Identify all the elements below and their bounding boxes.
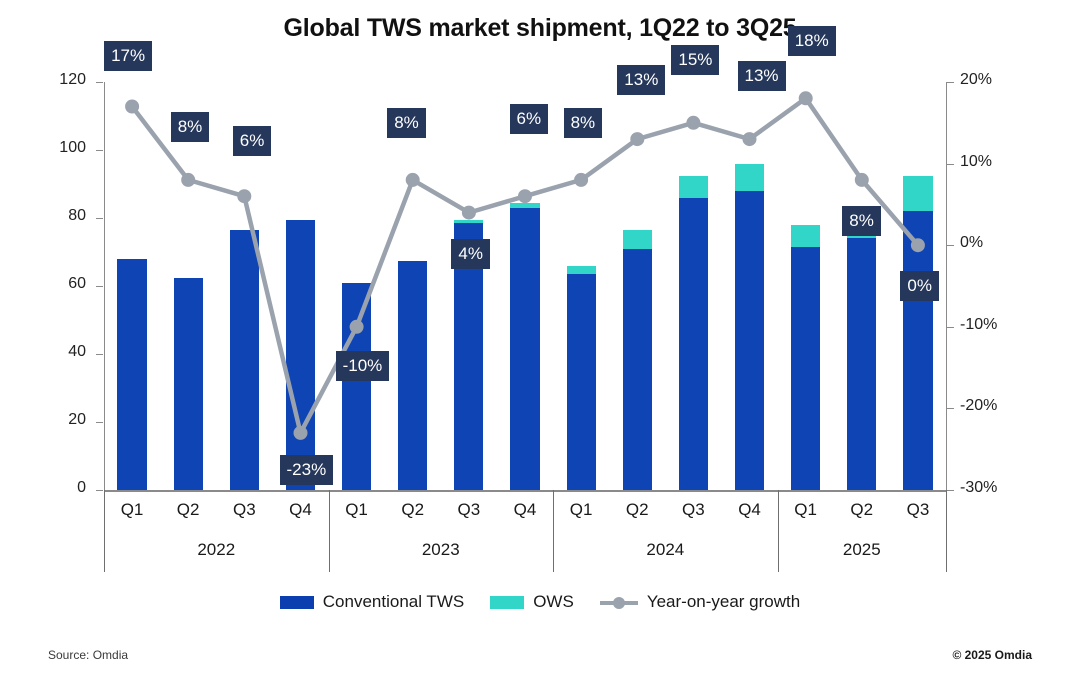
growth-line-marker — [294, 426, 308, 440]
x-tick-label-quarter: Q4 — [722, 500, 778, 520]
growth-data-label: 18% — [788, 26, 836, 56]
growth-line-marker — [855, 173, 869, 187]
x-tick-label-quarter: Q1 — [329, 500, 385, 520]
source-note: Source: Omdia — [48, 648, 128, 662]
growth-data-label: 8% — [171, 112, 210, 142]
growth-line-marker — [630, 132, 644, 146]
growth-data-label: 6% — [233, 126, 272, 156]
growth-data-label: 13% — [738, 61, 786, 91]
growth-data-label: 13% — [617, 65, 665, 95]
legend-color-swatch — [280, 596, 314, 609]
x-axis-group-label: 2023 — [329, 540, 554, 560]
x-tick-label-quarter: Q4 — [272, 500, 328, 520]
x-tick-label-quarter: Q3 — [216, 500, 272, 520]
growth-line-marker — [237, 189, 251, 203]
growth-line-marker — [350, 320, 364, 334]
x-axis-group-label: 2025 — [778, 540, 946, 560]
x-tick-label-quarter: Q1 — [778, 500, 834, 520]
legend-item-1: Conventional TWS — [280, 592, 464, 612]
growth-data-label: 17% — [104, 41, 152, 71]
x-tick-label-quarter: Q1 — [104, 500, 160, 520]
x-axis-group-separator — [329, 490, 330, 572]
legend-label: Year-on-year growth — [647, 592, 800, 612]
growth-data-label: 8% — [842, 206, 881, 236]
copyright-note: © 2025 Omdia — [952, 648, 1032, 662]
growth-line-marker — [462, 206, 476, 220]
x-tick-label-quarter: Q2 — [834, 500, 890, 520]
legend-item-2: OWS — [490, 592, 574, 612]
growth-line-marker — [686, 116, 700, 130]
x-axis-group-separator — [778, 490, 779, 572]
x-axis-group-separator — [946, 490, 947, 572]
chart-legend: Conventional TWSOWSYear-on-year growth — [0, 592, 1080, 612]
growth-data-label: -10% — [336, 351, 390, 381]
legend-line-swatch — [600, 596, 638, 609]
growth-line-layer — [0, 0, 1080, 675]
x-tick-label-quarter: Q3 — [441, 500, 497, 520]
growth-line-marker — [518, 189, 532, 203]
growth-data-label: 8% — [564, 108, 603, 138]
growth-line-marker — [125, 100, 139, 114]
growth-data-label: -23% — [280, 455, 334, 485]
x-tick-label-quarter: Q3 — [890, 500, 946, 520]
x-tick-label-quarter: Q1 — [553, 500, 609, 520]
growth-data-label: 6% — [510, 104, 549, 134]
growth-line-marker — [574, 173, 588, 187]
growth-line-marker — [799, 91, 813, 105]
x-tick-label-quarter: Q2 — [385, 500, 441, 520]
legend-color-swatch — [490, 596, 524, 609]
x-tick-label-quarter: Q2 — [609, 500, 665, 520]
x-axis-group-label: 2024 — [553, 540, 778, 560]
growth-line-marker — [911, 238, 925, 252]
growth-data-label: 4% — [451, 239, 490, 269]
legend-item-3: Year-on-year growth — [600, 592, 800, 612]
growth-line-marker — [406, 173, 420, 187]
x-axis-group-separator — [104, 490, 105, 572]
growth-data-label: 15% — [671, 45, 719, 75]
legend-label: Conventional TWS — [323, 592, 464, 612]
growth-line-marker — [743, 132, 757, 146]
growth-line-marker — [181, 173, 195, 187]
growth-data-label: 0% — [900, 271, 939, 301]
legend-label: OWS — [533, 592, 574, 612]
growth-data-label: 8% — [387, 108, 426, 138]
x-tick-label-quarter: Q4 — [497, 500, 553, 520]
x-tick-label-quarter: Q2 — [160, 500, 216, 520]
x-axis-group-label: 2022 — [104, 540, 329, 560]
x-axis-group-separator — [553, 490, 554, 572]
x-tick-label-quarter: Q3 — [665, 500, 721, 520]
chart-container: Global TWS market shipment, 1Q22 to 3Q25… — [0, 0, 1080, 675]
